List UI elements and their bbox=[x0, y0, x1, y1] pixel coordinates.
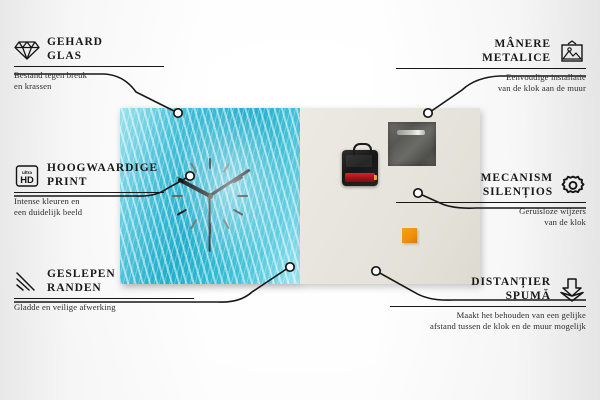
callout-desc-line2: een duidelijk beeld bbox=[14, 207, 164, 218]
callout-rule bbox=[396, 68, 586, 69]
marker-manere-metalice bbox=[424, 109, 432, 117]
callout-title-line2: METALICE bbox=[482, 52, 551, 66]
callout-desc-line1: Eenvoudige installatie bbox=[396, 72, 586, 83]
callout-desc-line1: Gladde en veilige afwerking bbox=[14, 302, 194, 313]
diamond-icon bbox=[14, 39, 40, 61]
gear-icon bbox=[560, 174, 586, 198]
callout-desc-line2: afstand tussen de klok en de muur mogeli… bbox=[390, 321, 586, 332]
callout-title-line1: MECANISM bbox=[481, 172, 553, 186]
callout-title-line1: GESLEPEN bbox=[47, 268, 116, 282]
marker-distantier-spuma bbox=[372, 267, 380, 275]
callout-title-line2: RANDEN bbox=[47, 282, 116, 296]
callout-header: ultra HD HOOGWAARDIGE PRINT bbox=[14, 162, 164, 189]
callout-header: MÂNERE METALICE bbox=[396, 38, 586, 65]
callout-rule bbox=[14, 298, 194, 299]
callout-title-line1: GEHARD bbox=[47, 36, 103, 50]
callout-mecanism-silentios: MECANISM SILENȚIOS Geruisloze wijzers va… bbox=[396, 172, 586, 227]
callout-header: GEHARD GLAS bbox=[14, 36, 164, 63]
callout-rule bbox=[390, 306, 586, 307]
marker-geslepen-randen bbox=[286, 263, 294, 271]
callout-manere-metalice: MÂNERE METALICE Eenvoudige installatie v… bbox=[396, 38, 586, 93]
callout-gehard-glas: GEHARD GLAS Bestand tegen breuk en krass… bbox=[14, 36, 164, 91]
callout-desc-line1: Intense kleuren en bbox=[14, 196, 164, 207]
beveled-edges-icon bbox=[14, 271, 40, 293]
marker-hoogwaardige-print bbox=[186, 172, 194, 180]
callout-rule bbox=[14, 66, 164, 67]
picture-hanger-icon bbox=[558, 40, 586, 64]
callout-title-line2: PRINT bbox=[47, 176, 158, 190]
callout-title-line1: DISTANȚIER bbox=[471, 276, 551, 290]
callout-desc-line2: van de klok aan de muur bbox=[396, 83, 586, 94]
spacer-arrow-icon bbox=[558, 277, 586, 303]
callout-title-line2: GLAS bbox=[47, 50, 103, 64]
callout-title-line1: HOOGWAARDIGE bbox=[47, 162, 158, 176]
callout-geslepen-randen: GESLEPEN RANDEN Gladde en veilige afwerk… bbox=[14, 268, 194, 313]
callout-desc-line2: en krassen bbox=[14, 81, 164, 92]
callout-desc-line1: Bestand tegen breuk bbox=[14, 70, 164, 81]
infographic-canvas: GEHARD GLAS Bestand tegen breuk en krass… bbox=[0, 0, 600, 400]
callout-title-line2: SPUMĂ bbox=[471, 290, 551, 304]
callout-hoogwaardige-print: ultra HD HOOGWAARDIGE PRINT Intense kleu… bbox=[14, 162, 164, 217]
ultra-hd-icon-large-text: HD bbox=[20, 174, 34, 185]
ultra-hd-icon: ultra HD bbox=[14, 164, 40, 188]
callout-title-line1: MÂNERE bbox=[482, 38, 551, 52]
callout-header: GESLEPEN RANDEN bbox=[14, 268, 194, 295]
callout-header: DISTANȚIER SPUMĂ bbox=[390, 276, 586, 303]
callout-distantier-spuma: DISTANȚIER SPUMĂ Maakt het behouden van … bbox=[390, 276, 586, 331]
marker-gehard-glas bbox=[174, 109, 182, 117]
callout-title-line2: SILENȚIOS bbox=[481, 186, 553, 200]
callout-desc-line1: Maakt het behouden van een gelijke bbox=[390, 310, 586, 321]
callout-rule bbox=[14, 192, 164, 193]
callout-desc-line2: van de klok bbox=[396, 217, 586, 228]
callout-desc-line1: Geruisloze wijzers bbox=[396, 206, 586, 217]
callout-header: MECANISM SILENȚIOS bbox=[396, 172, 586, 199]
callout-rule bbox=[396, 202, 586, 203]
